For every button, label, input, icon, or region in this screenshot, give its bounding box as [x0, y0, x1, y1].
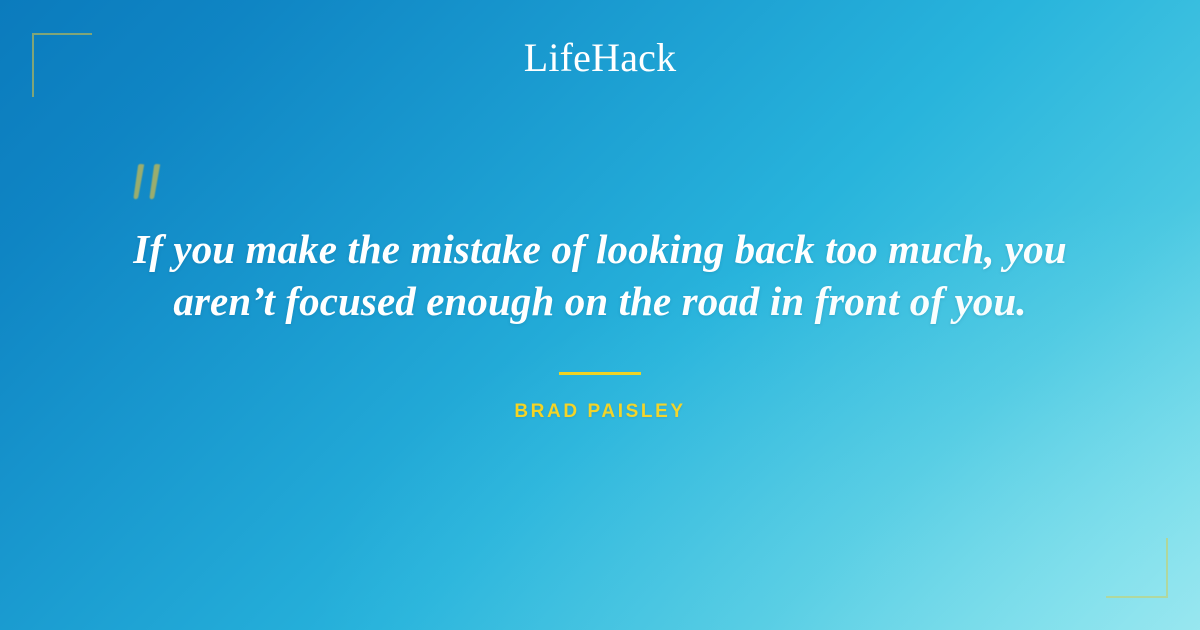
attribution: BRAD PAISLEY	[0, 372, 1200, 423]
brand-logo-text: LifeHack	[524, 38, 677, 78]
quotation-mark-icon	[126, 162, 186, 218]
quote-card: LifeHack If you make the mistake of look…	[0, 0, 1200, 630]
attribution-divider	[559, 372, 641, 375]
quote-block: If you make the mistake of looking back …	[0, 168, 1200, 327]
attribution-author: BRAD PAISLEY	[0, 401, 1200, 423]
quote-text: If you make the mistake of looking back …	[0, 224, 1200, 327]
corner-bracket-bottom-right-icon	[1106, 538, 1168, 598]
brand-logo: LifeHack	[0, 0, 1200, 78]
